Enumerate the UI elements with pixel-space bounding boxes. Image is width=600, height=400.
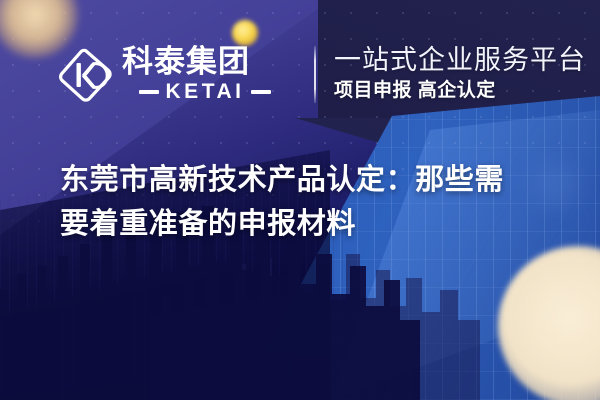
dash-right-icon: [251, 90, 271, 94]
ketai-logo-icon[interactable]: [58, 46, 114, 104]
vertical-divider: [314, 46, 316, 103]
brand-name-en-row: KETAI: [122, 81, 288, 102]
brand-name-cn-text: 科泰集团: [122, 44, 250, 80]
brand-header: 科泰集团 KETAI 一站式企业服务平台 项目申报 高企认定: [58, 44, 586, 104]
headline-title: 东莞市高新技术产品认定：那些需 要着重准备的申报材料: [60, 158, 560, 246]
headline-line-1: 东莞市高新技术产品认定：那些需: [60, 158, 560, 202]
tagline-main-text: 一站式企业服务平台: [334, 45, 586, 75]
brand-name-en-text: KETAI: [166, 81, 245, 102]
tagline-sub-text: 项目申报 高企认定: [334, 80, 586, 103]
promo-banner: 科泰集团 KETAI 一站式企业服务平台 项目申报 高企认定 东莞市高新技术产品…: [0, 0, 600, 400]
brand-name-cn-wrap: 科泰集团: [122, 44, 288, 78]
tagline-column: 一站式企业服务平台 项目申报 高企认定: [334, 45, 586, 103]
dash-left-icon: [139, 90, 159, 94]
headline-line-2: 要着重准备的申报材料: [60, 202, 560, 246]
brand-logo-block[interactable]: 科泰集团 KETAI: [58, 44, 288, 104]
brand-name-cn-artwork: 科泰集团: [122, 44, 288, 80]
brand-name-column: 科泰集团 KETAI: [122, 44, 288, 102]
